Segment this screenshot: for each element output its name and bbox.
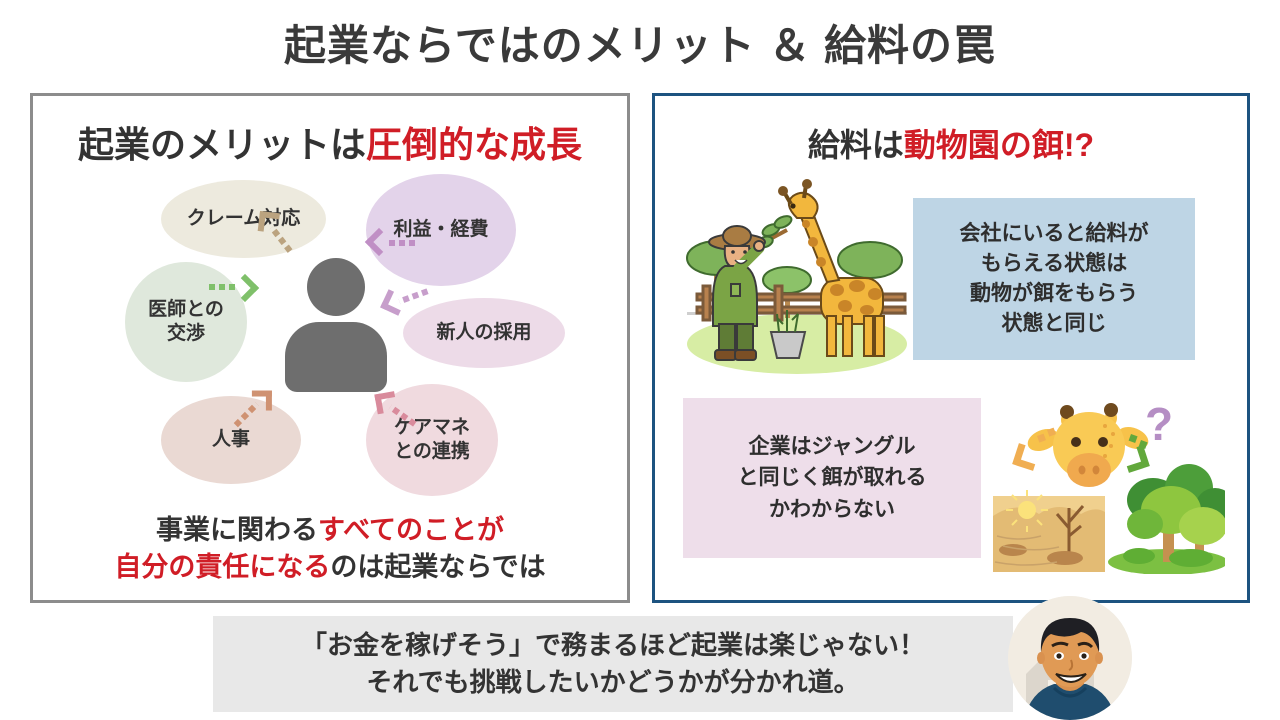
- footer-speech-line2: それでも挑戦したいかどうかが分かれ道。: [366, 664, 859, 701]
- question-mark-icon: ?: [1145, 398, 1173, 450]
- jungle-statement-box: 企業はジャングル と同じく餌が取れる かわからない: [683, 398, 981, 558]
- right-panel: 給料は動物園の餌!?: [652, 93, 1250, 603]
- right-heading-plain: 給料は: [808, 127, 904, 163]
- arrow-from-profit-icon: [369, 230, 415, 256]
- person-icon: [281, 258, 391, 398]
- blue-box-line3: 動物が餌をもらう: [970, 279, 1138, 309]
- left-panel-footer: 事業に関わるすべてのことが 自分の責任になるのは起業ならでは: [33, 512, 627, 587]
- presenter-avatar: [1008, 596, 1132, 720]
- bubble-label-line1: 医師との: [148, 299, 224, 320]
- pink-box-line2: と同じく餌が取れる: [738, 462, 927, 493]
- left-panel-heading: 起業のメリットは圧倒的な成長: [33, 116, 627, 168]
- bubble-label-line2: 交渉: [167, 323, 205, 344]
- left-footer-line1: 事業に関わるすべてのことが: [156, 515, 504, 545]
- zookeeper-giraffe-illustration: [679, 174, 915, 374]
- right-panel-heading: 給料は動物園の餌!?: [655, 120, 1247, 166]
- bubble-new-hire-recruiting: 新人の採用: [403, 298, 565, 368]
- right-heading-highlight: 動物園の餌!?: [904, 127, 1094, 163]
- left-panel: 起業のメリットは圧倒的な成長 クレーム対応 利益・経費 医師との 交渉 新人の採…: [30, 93, 630, 603]
- slide-root: 起業ならではのメリット ＆ 給料の罠 起業のメリットは圧倒的な成長 クレーム対応…: [0, 0, 1280, 720]
- left-heading-highlight: 圧倒的な成長: [366, 124, 582, 165]
- footer-speech-line1: 「お金を稼げそう」で務まるほど起業は楽じゃない！: [301, 627, 925, 664]
- left-heading-plain: 起業のメリットは: [78, 124, 366, 165]
- blue-box-line2: もらえる状態は: [981, 249, 1127, 279]
- merit-bubble-diagram: クレーム対応 利益・経費 医師との 交渉 新人の採用 人事 ケアマネ: [33, 174, 627, 504]
- blue-box-line1: 会社にいると給料が: [960, 219, 1149, 249]
- giraffe-choice-illustration: ?: [993, 384, 1225, 574]
- pink-box-line3: かわからない: [769, 494, 895, 525]
- giraffe-head-icon: [1024, 403, 1151, 487]
- desert-scene-icon: [993, 490, 1105, 572]
- arrow-from-doctor-icon: [209, 274, 255, 300]
- left-footer-line2: 自分の責任になるのは起業ならでは: [114, 552, 545, 582]
- bubble-label: 新人の採用: [436, 321, 531, 345]
- bubble-label: 医師との 交渉: [148, 298, 224, 346]
- blue-box-line4: 状態と同じ: [1002, 309, 1107, 339]
- bubble-claim-handling: クレーム対応: [161, 180, 326, 258]
- jungle-scene-icon: [1108, 464, 1225, 574]
- footer-speech-bubble: 「お金を稼げそう」で務まるほど起業は楽じゃない！ それでも挑戦したいかどうかが分…: [213, 616, 1013, 712]
- page-title: 起業ならではのメリット ＆ 給料の罠: [0, 12, 1280, 73]
- person-head-icon: [307, 258, 365, 316]
- pink-box-line1: 企業はジャングル: [749, 431, 916, 462]
- bubble-human-resources: 人事: [161, 396, 301, 484]
- salary-statement-box: 会社にいると給料が もらえる状態は 動物が餌をもらう 状態と同じ: [913, 198, 1195, 360]
- person-body-icon: [285, 322, 387, 392]
- bubble-label-line2: との連携: [394, 441, 470, 462]
